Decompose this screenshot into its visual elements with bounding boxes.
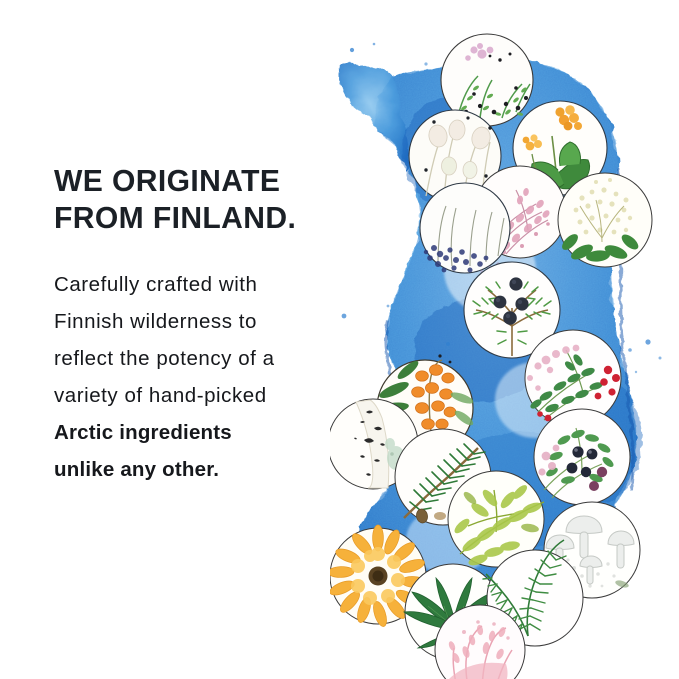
- copy-block: WE ORIGINATE FROM FINLAND. Carefully cra…: [54, 162, 354, 488]
- map-svg: [330, 20, 679, 679]
- finland-map-illustration: [330, 20, 679, 679]
- body-line-2: Finnish wilderness to: [54, 303, 354, 340]
- botanical-circle-blueberry: [534, 409, 630, 505]
- poster-canvas: WE ORIGINATE FROM FINLAND. Carefully cra…: [0, 0, 679, 679]
- body-line-3: reflect the potency of a: [54, 340, 354, 377]
- body-line-1: Carefully crafted with: [54, 266, 354, 303]
- body-line-6-bold: unlike any other.: [54, 451, 354, 488]
- body-line-4: variety of hand-picked: [54, 377, 354, 414]
- page-title: WE ORIGINATE FROM FINLAND.: [54, 162, 345, 236]
- body-line-5-bold: Arctic ingredients: [54, 414, 354, 451]
- botanical-circle-bilberry-bush: [420, 183, 510, 274]
- body-paragraph: Carefully crafted with Finnish wildernes…: [54, 266, 354, 488]
- botanical-circle-meadowsweet: [558, 173, 652, 267]
